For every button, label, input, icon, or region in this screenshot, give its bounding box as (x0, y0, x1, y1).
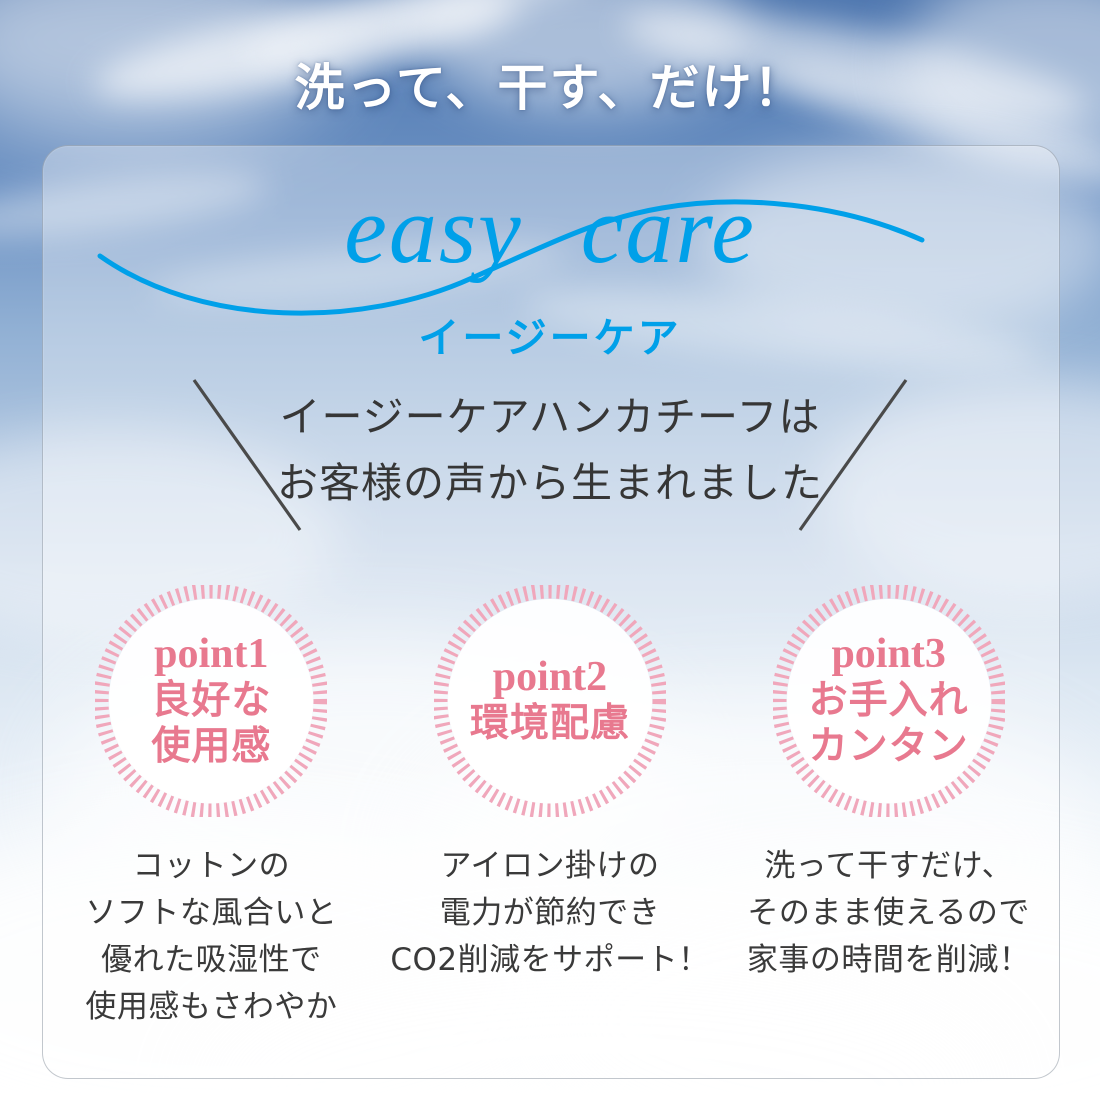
point-item-1: point1 良好な 使用感 コットンの ソフトな風合いと 優れた吸湿性で 使用… (46, 585, 376, 1031)
point-label-1: point1 (154, 632, 268, 677)
point-caption-2-line1: アイロン掛けの (390, 843, 709, 890)
subtitle-line-2: お客様の声から生まれました (42, 450, 1058, 516)
point-badge-2: point2 環境配慮 (434, 585, 666, 817)
point-caption-3-line3: 家事の時間を削減！ (747, 937, 1031, 984)
point-title-2: 環境配慮 (470, 701, 630, 747)
point-badge-text-3: point3 お手入れ カンタン (773, 585, 1005, 817)
point-label-3: point3 (831, 632, 945, 677)
logo-kana: イージーケア (42, 304, 1058, 364)
point-caption-2: アイロン掛けの 電力が節約でき CO2削減をサポート！ (390, 843, 709, 984)
subtitle-text: イージーケアハンカチーフは お客様の声から生まれました (42, 384, 1058, 517)
point-caption-3: 洗って干すだけ、 そのまま使えるので 家事の時間を削減！ (747, 843, 1031, 984)
subtitle-line-1: イージーケアハンカチーフは (42, 384, 1058, 450)
point-item-2: point2 環境配慮 アイロン掛けの 電力が節約でき CO2削減をサポート！ (385, 585, 715, 984)
point-caption-1-line4: 使用感もさわやか (85, 984, 337, 1031)
points-row: point1 良好な 使用感 コットンの ソフトな風合いと 優れた吸湿性で 使用… (42, 585, 1058, 1015)
logo-wordmark: easycare (42, 182, 1058, 278)
point-caption-2-line3: CO2削減をサポート！ (390, 937, 709, 984)
point-badge-1: point1 良好な 使用感 (95, 585, 327, 817)
logo-word-easy: easy (344, 176, 523, 283)
point-caption-3-line1: 洗って干すだけ、 (747, 843, 1031, 890)
point-label-2: point2 (493, 655, 607, 700)
subtitle-block: イージーケアハンカチーフは お客様の声から生まれました (42, 378, 1058, 538)
logo-word-care: care (581, 176, 756, 283)
point-badge-text-1: point1 良好な 使用感 (95, 585, 327, 817)
point-caption-3-line2: そのまま使えるので (747, 890, 1031, 937)
page-title: 洗って、干す、だけ！ (0, 48, 1100, 120)
point-title-1-line1: 良好な (151, 678, 271, 724)
point-title-2-line1: 環境配慮 (470, 701, 630, 747)
point-caption-1-line3: 優れた吸湿性で (85, 937, 337, 984)
brand-logo: easycare イージーケア (42, 168, 1058, 378)
point-caption-1-line1: コットンの (85, 843, 337, 890)
promo-banner: 洗って、干す、だけ！ easycare イージーケア イージーケアハンカチーフは… (0, 0, 1100, 1100)
point-item-3: point3 お手入れ カンタン 洗って干すだけ、 そのまま使えるので 家事の時… (724, 585, 1054, 984)
point-caption-2-line2: 電力が節約でき (390, 890, 709, 937)
point-caption-1: コットンの ソフトな風合いと 優れた吸湿性で 使用感もさわやか (85, 843, 337, 1031)
point-badge-3: point3 お手入れ カンタン (773, 585, 1005, 817)
point-badge-text-2: point2 環境配慮 (434, 585, 666, 817)
point-title-3-line2: カンタン (809, 724, 969, 770)
point-title-3: お手入れ カンタン (809, 678, 969, 770)
point-title-1: 良好な 使用感 (151, 678, 271, 770)
point-caption-1-line2: ソフトな風合いと (85, 890, 337, 937)
point-title-3-line1: お手入れ (809, 678, 969, 724)
point-title-1-line2: 使用感 (151, 724, 271, 770)
